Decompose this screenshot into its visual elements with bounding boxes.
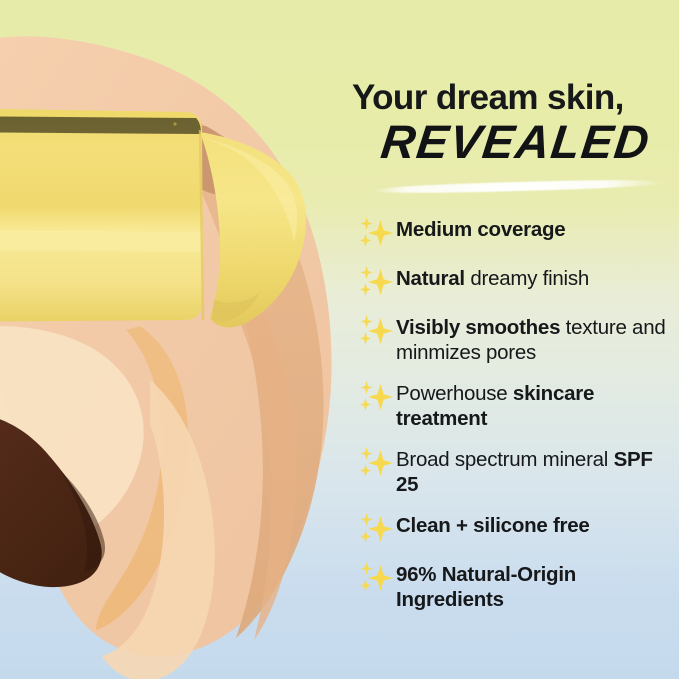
feature-bullet: Visibly smoothes texture and minmizes po… bbox=[358, 313, 678, 365]
feature-bullet: Clean + silicone free bbox=[358, 511, 678, 546]
product-image bbox=[0, 0, 360, 679]
bullet-segment: 96% Natural-Origin Ingredients bbox=[396, 563, 576, 611]
sparkle-icon bbox=[358, 314, 396, 348]
sparkle-icon bbox=[358, 265, 396, 299]
product-feature-ad: Your dream skin, REVEALED Medium coverag… bbox=[0, 0, 679, 679]
feature-bullet: Powerhouse skincare treatment bbox=[358, 379, 678, 431]
feature-bullet-text: Natural dreamy finish bbox=[396, 264, 678, 291]
sparkle-icon bbox=[358, 446, 396, 480]
bullet-segment: Natural bbox=[396, 267, 465, 290]
bullet-segment: Medium coverage bbox=[396, 218, 565, 241]
sparkle-icon bbox=[358, 216, 396, 250]
feature-bullet-text: Medium coverage bbox=[396, 215, 678, 242]
copy-column: Your dream skin, REVEALED Medium coverag… bbox=[350, 0, 679, 679]
feature-bullet: Medium coverage bbox=[358, 215, 678, 250]
headline-line-2: REVEALED bbox=[352, 116, 679, 168]
feature-bullet-list: Medium coverageNatural dreamy finishVisi… bbox=[358, 215, 678, 612]
feature-bullet-text: Clean + silicone free bbox=[396, 511, 678, 538]
bullet-segment: Clean + silicone free bbox=[396, 514, 590, 537]
sparkle-icon bbox=[358, 561, 396, 595]
foundation-swatch-illustration bbox=[0, 0, 360, 679]
bullet-segment: Powerhouse bbox=[396, 382, 513, 405]
feature-bullet-text: Visibly smoothes texture and minmizes po… bbox=[396, 313, 678, 365]
feature-bullet: 96% Natural-Origin Ingredients bbox=[358, 560, 678, 612]
bullet-segment: dreamy finish bbox=[465, 267, 589, 290]
brush-stroke-underline bbox=[372, 178, 664, 195]
bullet-segment: Visibly smoothes bbox=[396, 316, 560, 339]
feature-bullet-text: Broad spectrum mineral SPF 25 bbox=[396, 445, 678, 497]
feature-bullet: Broad spectrum mineral SPF 25 bbox=[358, 445, 678, 497]
cap-speck bbox=[173, 122, 176, 125]
product-cap-barrel bbox=[0, 108, 203, 322]
feature-bullet: Natural dreamy finish bbox=[358, 264, 678, 299]
headline-block: Your dream skin, REVEALED bbox=[352, 78, 677, 168]
sparkle-icon bbox=[358, 380, 396, 414]
feature-bullet-text: 96% Natural-Origin Ingredients bbox=[396, 560, 678, 612]
feature-bullet-text: Powerhouse skincare treatment bbox=[396, 379, 678, 431]
sparkle-icon bbox=[358, 512, 396, 546]
cap-highlight-top bbox=[0, 116, 201, 134]
cap-highlight-band bbox=[0, 230, 202, 252]
bullet-segment: Broad spectrum mineral bbox=[396, 448, 614, 471]
headline-line-1: Your dream skin, bbox=[352, 78, 677, 118]
